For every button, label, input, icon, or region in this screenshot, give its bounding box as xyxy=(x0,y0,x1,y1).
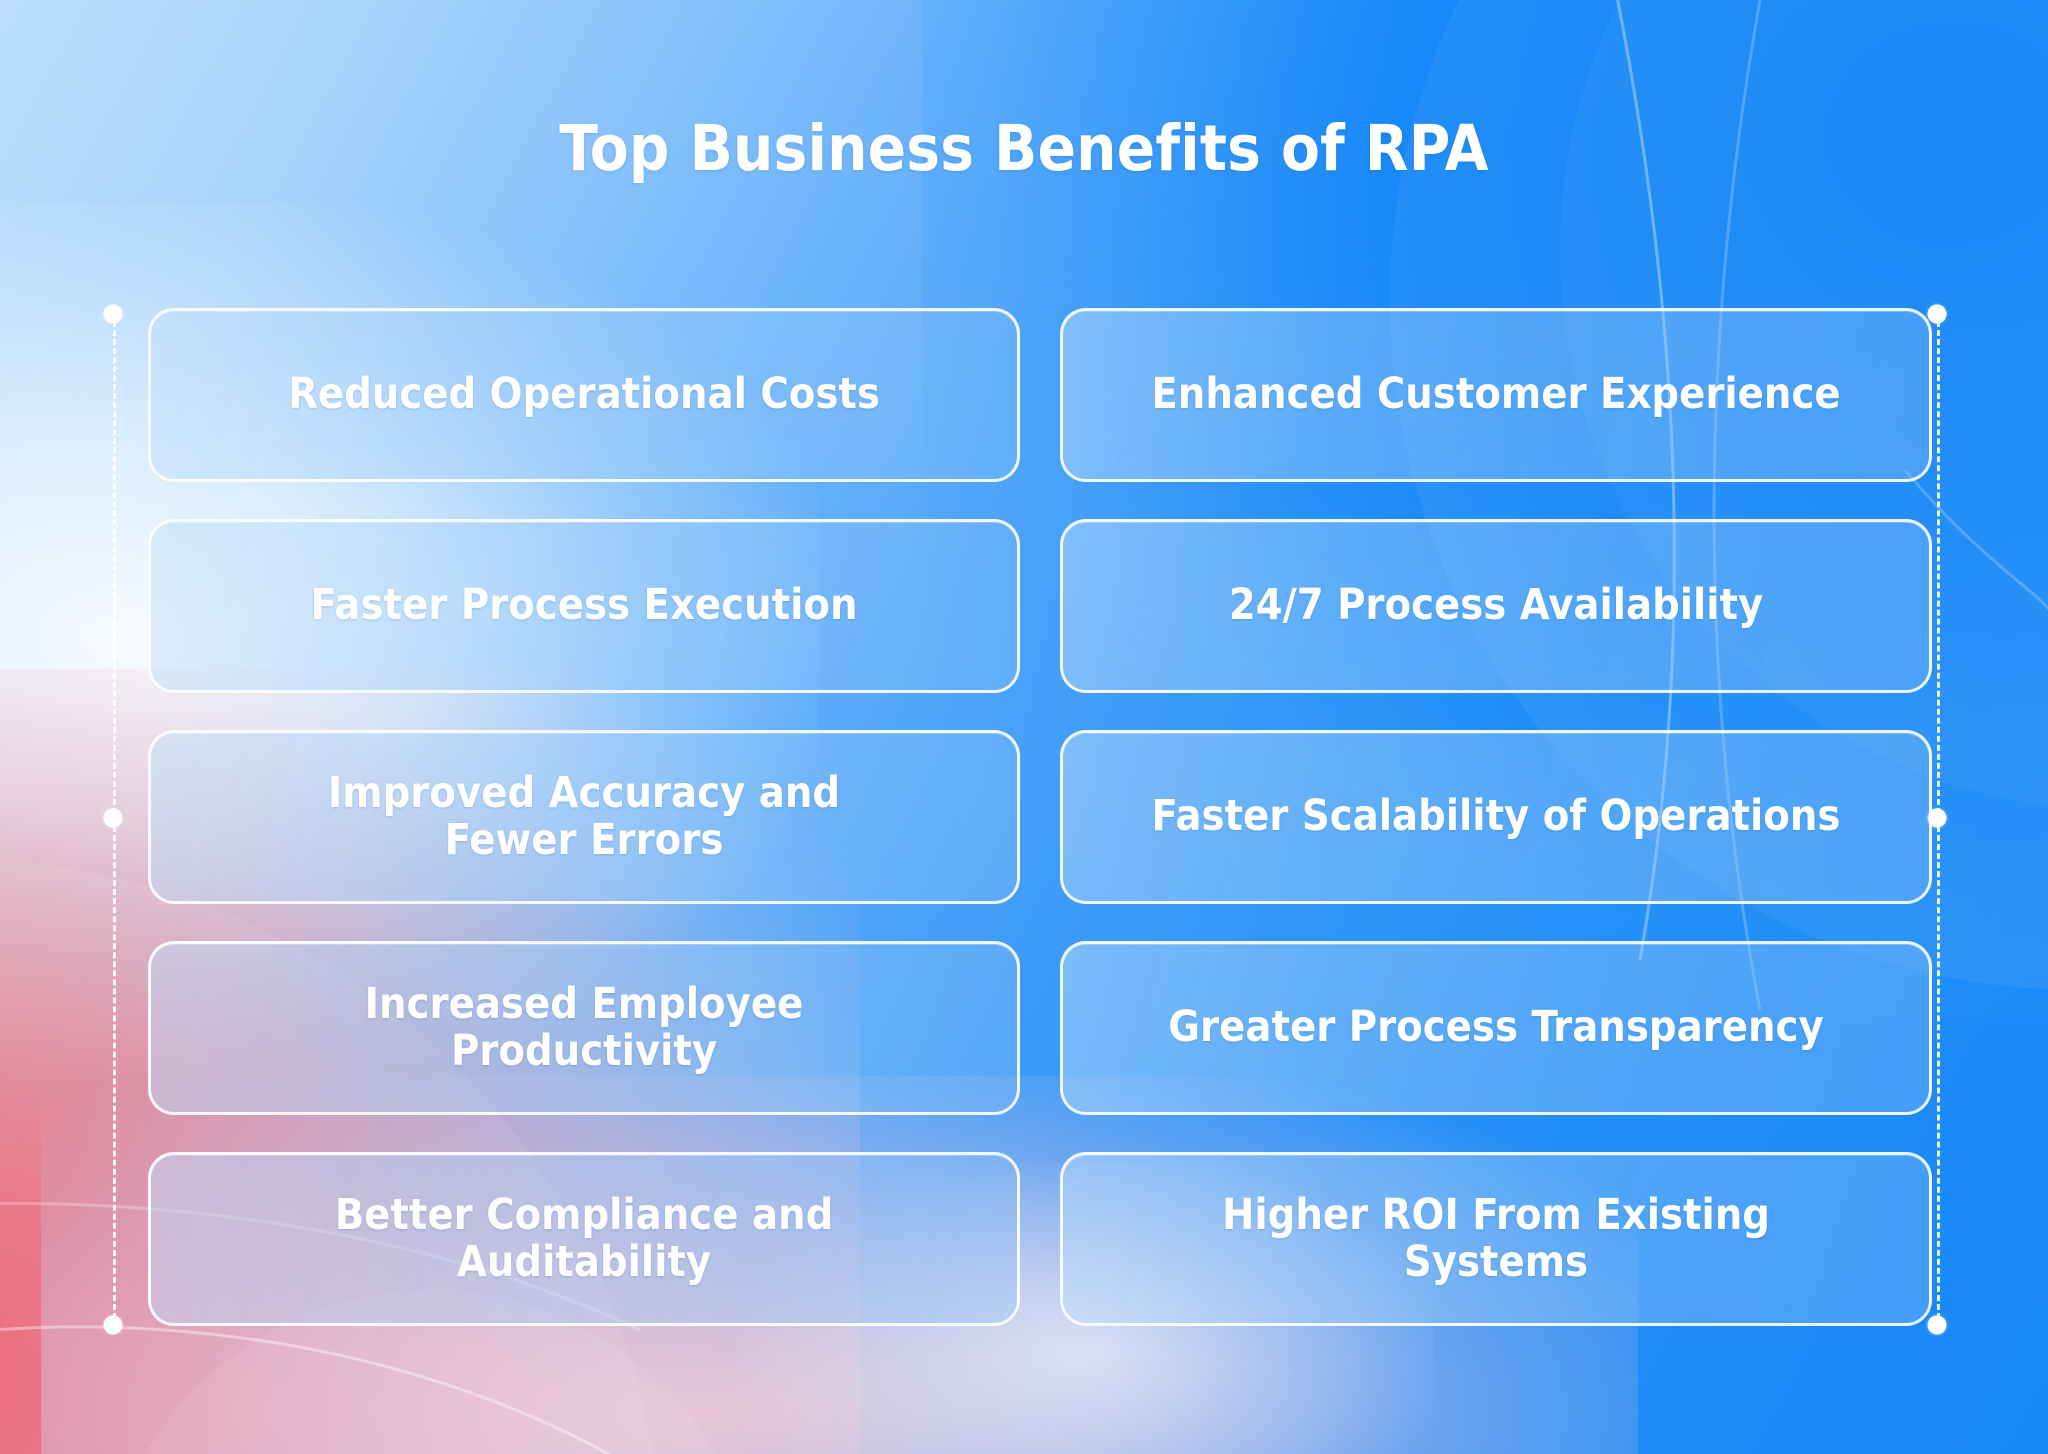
benefit-label-3: Faster Process Execution xyxy=(310,582,857,629)
benefit-card-3[interactable]: Faster Process Execution xyxy=(148,519,1020,693)
benefit-label-4: 24/7 Process Availability xyxy=(1229,582,1764,629)
benefit-card-10[interactable]: Higher ROI From Existing Systems xyxy=(1060,1152,1932,1326)
benefit-label-5: Improved Accuracy and Fewer Errors xyxy=(274,770,894,865)
benefit-label-8: Greater Process Transparency xyxy=(1168,1004,1823,1051)
rail-dot-left-bottom xyxy=(104,1316,123,1335)
benefit-label-7: Increased Employee Productivity xyxy=(304,981,864,1076)
rail-dot-left-top xyxy=(104,305,123,324)
benefit-label-9: Better Compliance and Auditability xyxy=(284,1192,884,1287)
benefit-card-5[interactable]: Improved Accuracy and Fewer Errors xyxy=(148,730,1020,904)
benefit-card-9[interactable]: Better Compliance and Auditability xyxy=(148,1152,1020,1326)
benefit-card-4[interactable]: 24/7 Process Availability xyxy=(1060,519,1932,693)
benefit-card-2[interactable]: Enhanced Customer Experience xyxy=(1060,308,1932,482)
benefit-label-1: Reduced Operational Costs xyxy=(288,371,880,418)
benefit-card-7[interactable]: Increased Employee Productivity xyxy=(148,941,1020,1115)
rail-dot-left-middle xyxy=(104,809,123,828)
benefit-card-8[interactable]: Greater Process Transparency xyxy=(1060,941,1932,1115)
benefit-label-6: Faster Scalability of Operations xyxy=(1152,793,1841,840)
benefit-card-6[interactable]: Faster Scalability of Operations xyxy=(1060,730,1932,904)
page-title: Top Business Benefits of RPA xyxy=(0,112,2048,185)
benefit-card-1[interactable]: Reduced Operational Costs xyxy=(148,308,1020,482)
benefit-label-10: Higher ROI From Existing Systems xyxy=(1186,1192,1806,1287)
benefit-label-2: Enhanced Customer Experience xyxy=(1151,371,1840,418)
benefits-grid: Reduced Operational Costs Enhanced Custo… xyxy=(148,308,1932,1328)
